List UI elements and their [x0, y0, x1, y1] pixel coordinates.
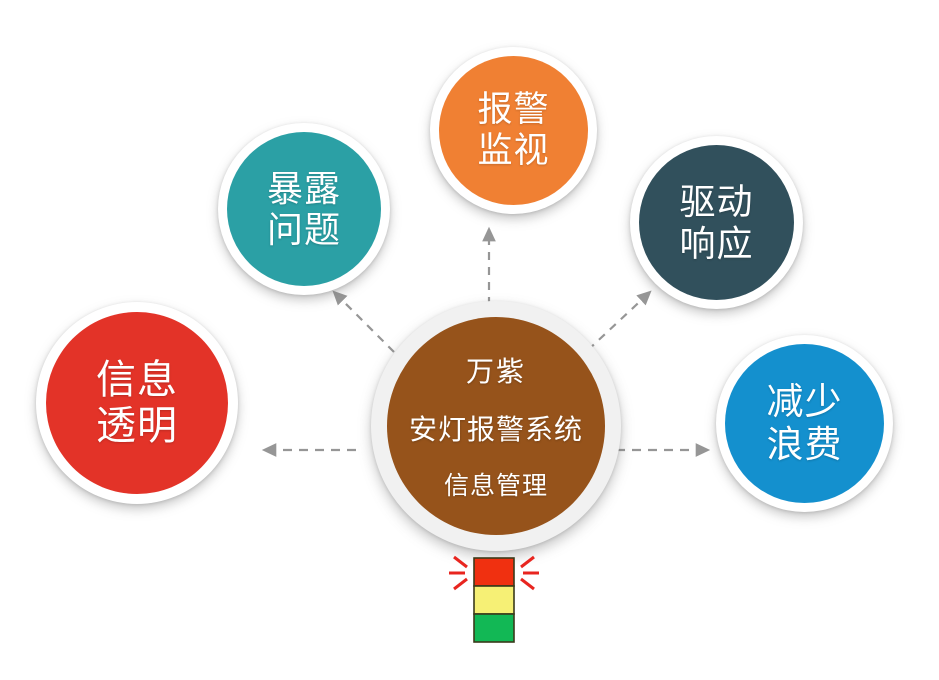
- node-alarm-monitoring[interactable]: 报警 监视: [430, 47, 597, 214]
- node-information-transparency[interactable]: 信息 透明: [36, 302, 238, 504]
- hub-line-2: 安灯报警系统: [409, 408, 583, 448]
- hub-line-1: 万紫: [466, 350, 526, 390]
- ray-left-down: [454, 579, 467, 589]
- node-label-drive-response: 驱动 响应: [679, 181, 753, 264]
- node-label-expose-problems: 暴露 问题: [267, 168, 341, 251]
- flash-rays-right: [521, 557, 539, 589]
- diagram-canvas: 报警 监视 暴露 问题 驱动 响应 信息 透明 减少 浪费 万紫 安灯报警系统 …: [0, 0, 939, 680]
- node-expose-problems[interactable]: 暴露 问题: [218, 123, 390, 295]
- hub-andon-alarm-system[interactable]: 万紫 安灯报警系统 信息管理: [371, 301, 621, 551]
- node-reduce-waste[interactable]: 减少 浪费: [716, 335, 893, 512]
- lamp-red: [474, 558, 514, 586]
- lamp-yellow: [474, 586, 514, 614]
- hub-line-3: 信息管理: [444, 466, 548, 502]
- ray-right-down: [521, 579, 534, 589]
- lamp-green: [474, 614, 514, 642]
- node-label-alarm-monitoring: 报警 监视: [477, 90, 549, 171]
- node-drive-response[interactable]: 驱动 响应: [630, 136, 803, 309]
- node-label-information-transparency: 信息 透明: [96, 357, 178, 449]
- hub-disc: 万紫 安灯报警系统 信息管理: [387, 317, 605, 535]
- node-label-reduce-waste: 减少 浪费: [767, 381, 843, 466]
- ray-left-up: [454, 557, 467, 567]
- andon-light-tower: [442, 548, 546, 648]
- ray-right-up: [521, 557, 534, 567]
- flash-rays-left: [449, 557, 467, 589]
